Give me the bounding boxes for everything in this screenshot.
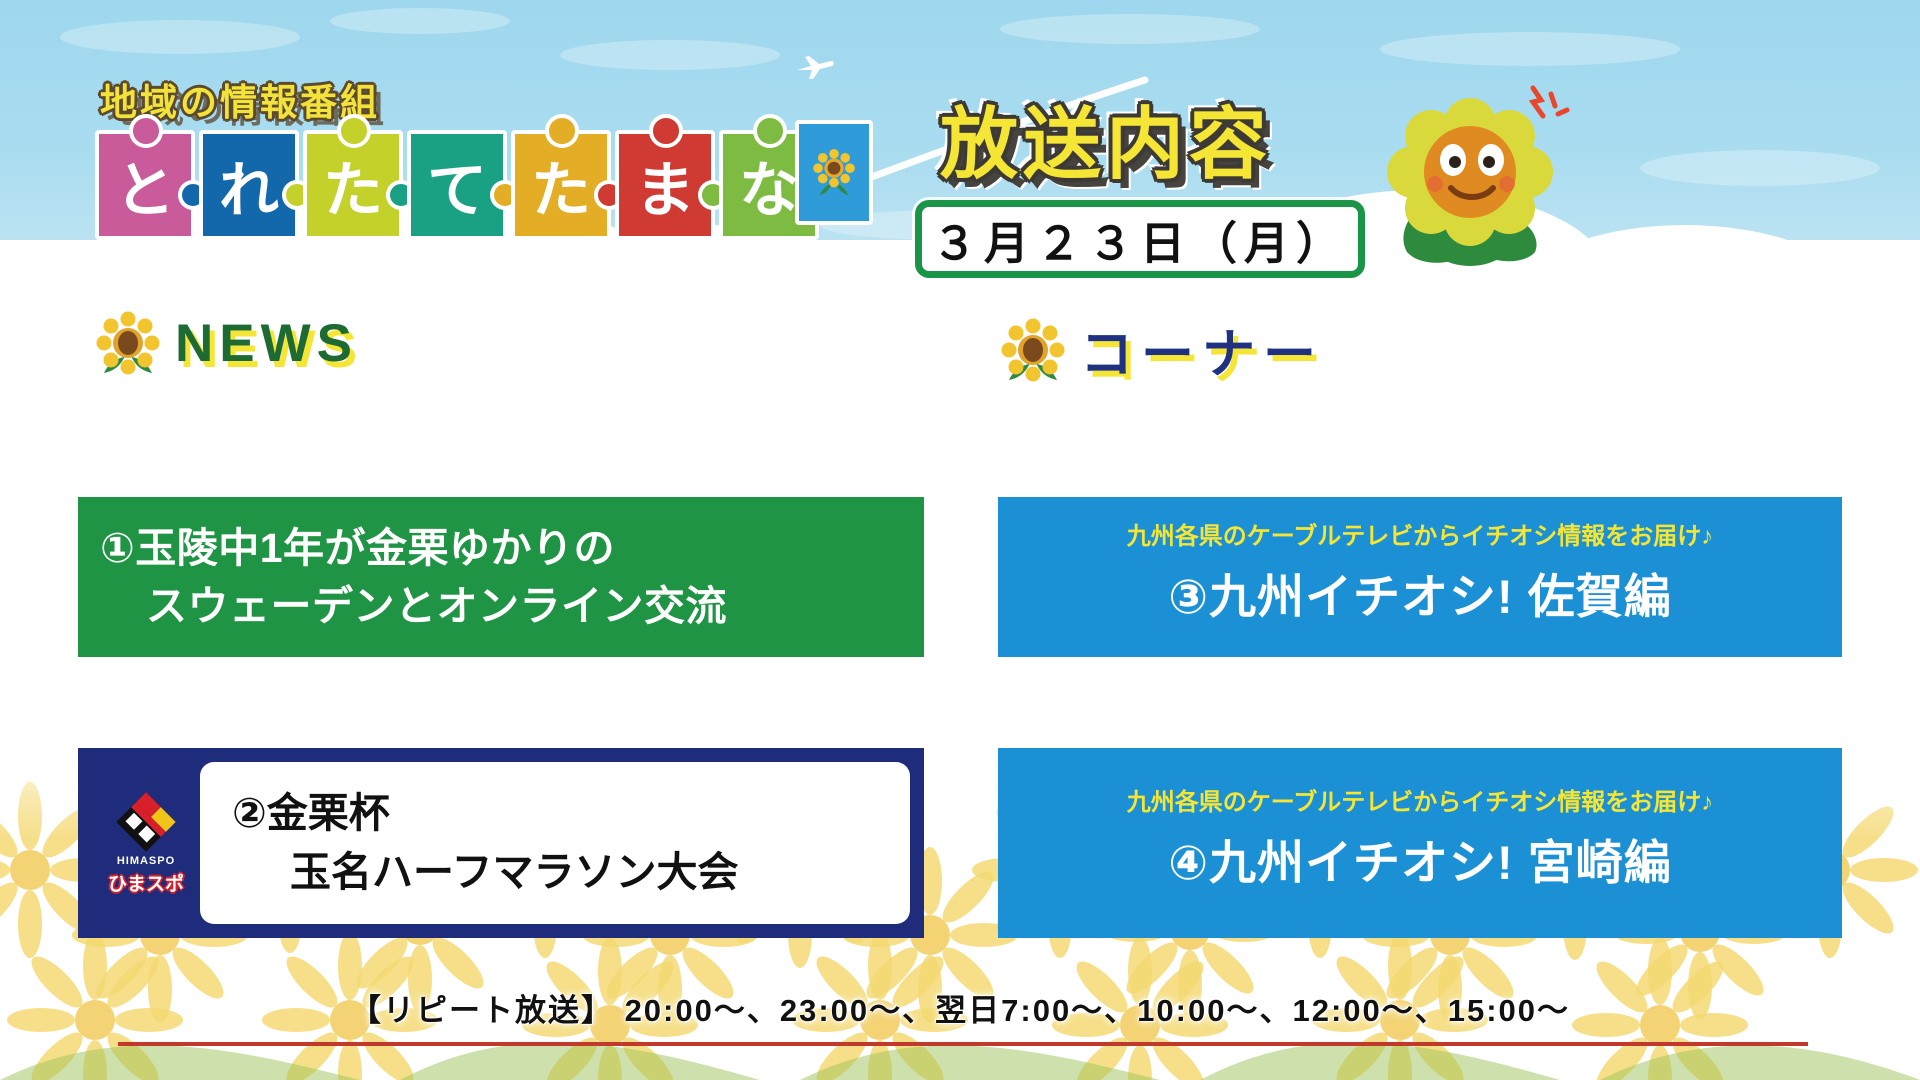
news-item-1-line2: スウェーデンとオンライン交流: [100, 577, 727, 635]
corner-heading-label: コーナー: [1080, 312, 1324, 388]
corner-item-2-title: ④九州イチオシ! 宮崎編: [998, 824, 1842, 893]
corner-section-heading: コーナー: [1000, 312, 1324, 388]
airplane-icon: [795, 55, 835, 81]
corner-item-1[interactable]: 九州各県のケーブルテレビからイチオシ情報をお届け♪ ③九州イチオシ! 佐賀編: [998, 497, 1842, 657]
puzzle-piece-2: れ: [199, 130, 299, 240]
broadcast-date-text: ３月２３日（月）: [932, 207, 1348, 272]
puzzle-piece-8-flower: [795, 120, 873, 225]
news-item-navy[interactable]: HIMASPO ひまスポ ②金栗杯 玉名ハーフマラソン大会: [78, 748, 924, 938]
program-title-logo: と れ た て た ま: [95, 130, 775, 255]
sunflower-mascot-icon: [1355, 80, 1575, 275]
news-item-green[interactable]: ①玉陵中1年が金栗ゆかりの スウェーデンとオンライン交流: [78, 497, 924, 657]
footer-divider: [118, 1042, 1808, 1046]
corner-item-1-subtitle: 九州各県のケーブルテレビからイチオシ情報をお届け♪: [998, 523, 1842, 552]
corner-item-1-title: ③九州イチオシ! 佐賀編: [998, 558, 1842, 627]
corner-item-2-subtitle: 九州各県のケーブルテレビからイチオシ情報をお届け♪: [998, 789, 1842, 818]
puzzle-piece-7-char: な: [739, 142, 799, 229]
news-item-2-panel: ②金栗杯 玉名ハーフマラソン大会: [200, 762, 910, 924]
puzzle-piece-6: ま: [615, 130, 715, 240]
corner-item-2[interactable]: 九州各県のケーブルテレビからイチオシ情報をお届け♪ ④九州イチオシ! 宮崎編: [998, 748, 1842, 938]
puzzle-piece-3: た: [303, 130, 403, 240]
news-heading-label: NEWS: [175, 313, 358, 374]
sunflower-icon: [810, 147, 858, 199]
news-item-2-line1: ②金栗杯: [232, 784, 739, 843]
puzzle-piece-3-char: た: [323, 142, 383, 229]
himaspo-logo: HIMASPO ひまスポ: [92, 791, 200, 896]
broadcast-heading: 放送内容: [940, 82, 1272, 194]
himaspo-logo-jp: ひまスポ: [108, 869, 184, 896]
poster-stage: 地域の情報番組 と れ た て た: [0, 0, 1920, 1080]
repeat-broadcast-text: 【リピート放送】 20:00〜、23:00〜、翌日7:00〜、10:00〜、12…: [350, 993, 1570, 1028]
puzzle-piece-2-char: れ: [219, 142, 279, 229]
sunflower-icon: [95, 310, 161, 376]
himaspo-diamond-icon: [115, 791, 177, 853]
puzzle-piece-1: と: [95, 130, 195, 240]
news-item-1-line1: ①玉陵中1年が金栗ゆかりの: [100, 519, 727, 577]
puzzle-piece-4-char: て: [427, 142, 487, 229]
himaspo-logo-en: HIMASPO: [117, 855, 175, 867]
puzzle-piece-5-char: た: [531, 142, 591, 229]
broadcast-date-box: ３月２３日（月）: [915, 200, 1365, 278]
puzzle-piece-6-char: ま: [635, 142, 695, 229]
repeat-broadcast-footer: 【リピート放送】 20:00〜、23:00〜、翌日7:00〜、10:00〜、12…: [0, 985, 1920, 1030]
puzzle-piece-4: て: [407, 130, 507, 240]
puzzle-piece-1-char: と: [115, 142, 175, 229]
news-section-heading: NEWS: [95, 310, 358, 376]
sunflower-icon: [1000, 317, 1066, 383]
news-item-2-line2: 玉名ハーフマラソン大会: [232, 843, 739, 902]
puzzle-piece-5: た: [511, 130, 611, 240]
